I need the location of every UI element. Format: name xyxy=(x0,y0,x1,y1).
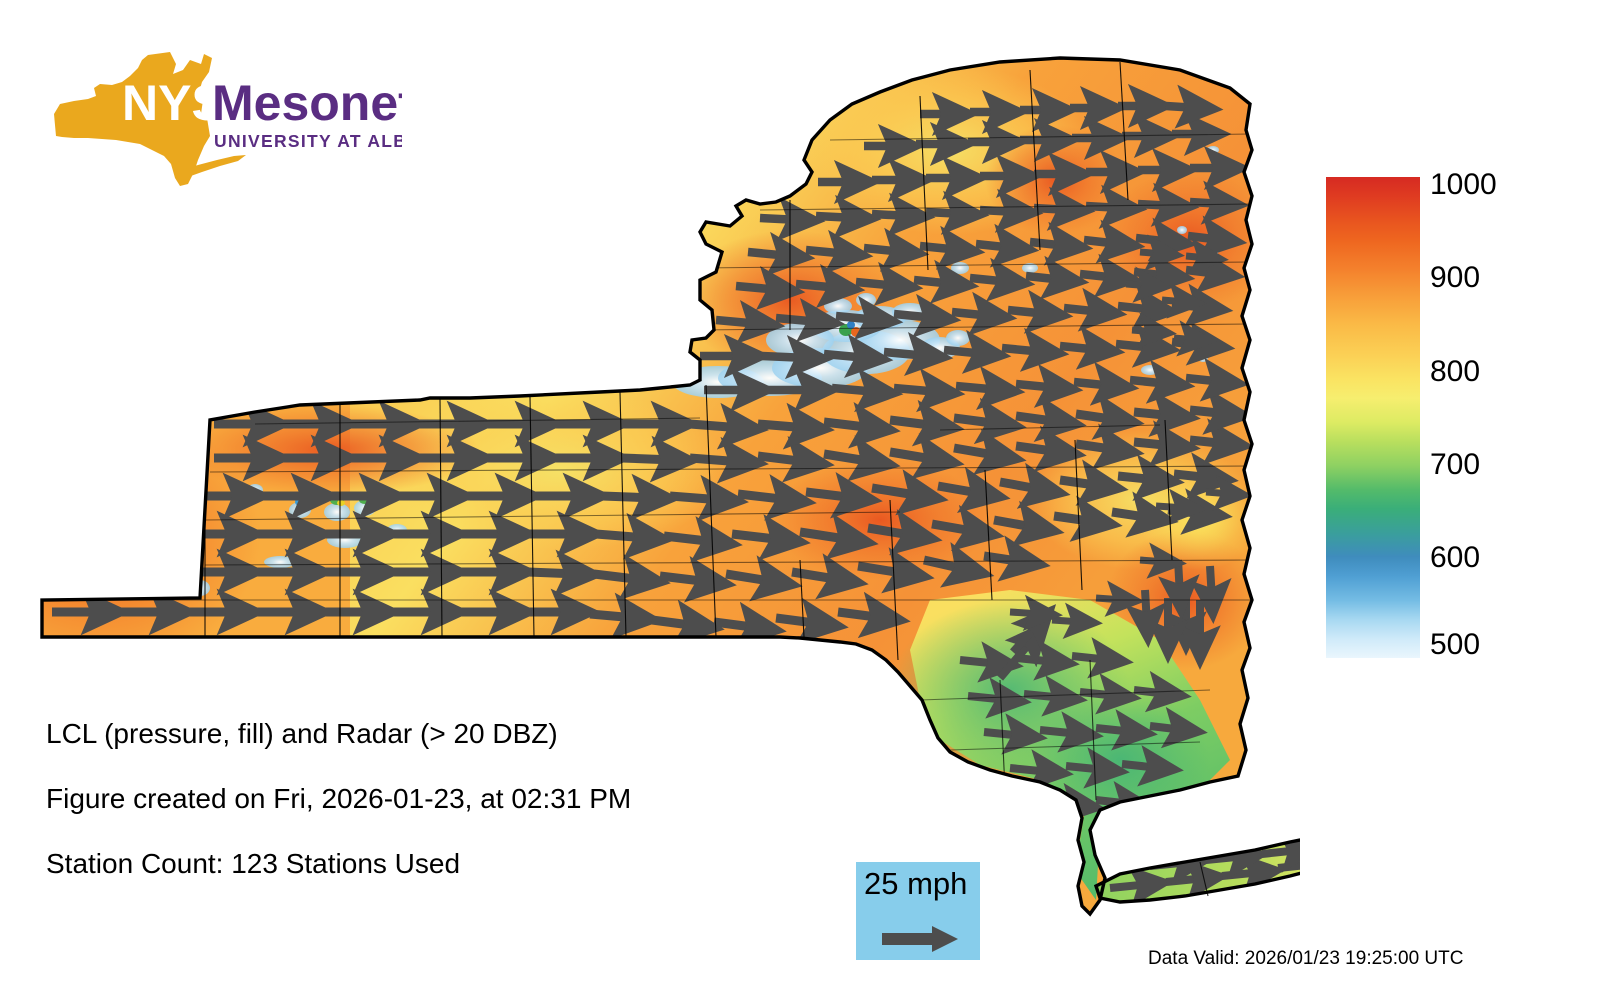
colorbar-tick-1000: 1000 xyxy=(1430,170,1497,200)
colorbar-tick-500: 500 xyxy=(1430,630,1480,660)
colorbar-tick-800: 800 xyxy=(1430,357,1480,387)
colorbar-tick-600: 600 xyxy=(1430,543,1480,573)
wind-speed-key: 25 mph xyxy=(856,862,980,960)
caption-station-count: Station Count: 123 Stations Used xyxy=(46,848,806,880)
caption-title: LCL (pressure, fill) and Radar (> 20 DBZ… xyxy=(46,718,806,750)
colorbar-tick-700: 700 xyxy=(1430,450,1480,480)
caption-created: Figure created on Fri, 2026-01-23, at 02… xyxy=(46,783,806,815)
colorbar-tick-900: 900 xyxy=(1430,263,1480,293)
figure-caption-block: LCL (pressure, fill) and Radar (> 20 DBZ… xyxy=(46,718,806,913)
data-valid-timestamp: Data Valid: 2026/01/23 19:25:00 UTC xyxy=(1148,948,1463,970)
colorbar-gradient xyxy=(1326,177,1420,658)
wind-key-label: 25 mph xyxy=(864,866,967,902)
lcl-pressure-colorbar: 1000 900 800 700 600 500 xyxy=(1326,177,1576,662)
right-arrow-icon xyxy=(882,924,960,954)
